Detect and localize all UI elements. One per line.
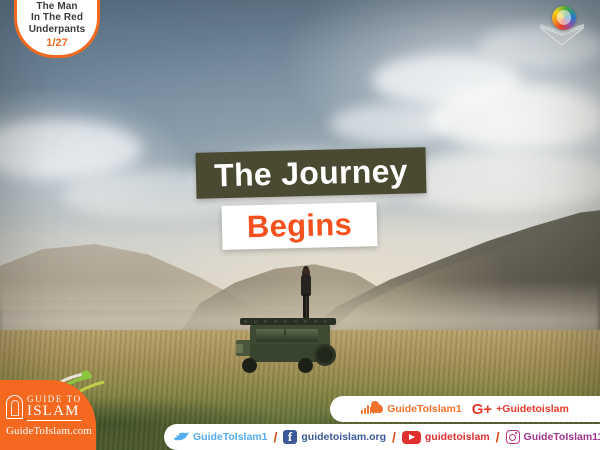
facebook-handle: guidetoislam.org — [301, 431, 386, 443]
facebook-icon — [283, 430, 297, 444]
social-bar-bottom: GuideToIslam1 / guidetoislam.org / guide… — [164, 424, 600, 450]
soundcloud-cloud — [370, 404, 383, 413]
title-line-2-bar: Begins — [221, 202, 377, 250]
soundcloud-handle: GuideToIslam1 — [387, 403, 462, 415]
episode-title-line-1: The Man — [29, 1, 86, 13]
soundcloud-icon — [361, 403, 383, 415]
episode-number: 1/27 — [46, 37, 67, 49]
title-line-1-bar: The Journey — [195, 147, 426, 199]
social-link-google-plus[interactable]: G+ +Guidetoislam — [472, 402, 569, 417]
youtube-handle: guidetoislam — [425, 431, 490, 443]
google-plus-icon: G+ — [472, 402, 492, 417]
brand-website[interactable]: GuideToIslam.com — [6, 425, 96, 437]
social-bar-top: GuideToIslam1 G+ +Guidetoislam — [330, 396, 600, 422]
brand-logo-block[interactable]: GUIDE TO ISLAM GuideToIslam.com — [0, 372, 122, 450]
title-line-1: The Journey — [214, 152, 408, 194]
globe-inner — [557, 10, 571, 25]
google-plus-handle: +Guidetoislam — [496, 403, 569, 415]
youtube-icon — [402, 431, 421, 444]
episode-title: The Man In The Red Underpants — [29, 1, 86, 36]
separator: / — [274, 429, 278, 445]
social-link-twitter[interactable]: GuideToIslam1 — [174, 431, 268, 443]
social-link-youtube[interactable]: guidetoislam — [402, 431, 490, 444]
social-link-soundcloud[interactable]: GuideToIslam1 — [361, 403, 462, 415]
guide-to-islam-logo[interactable] — [538, 6, 586, 50]
episode-title-line-2: In The Red — [29, 12, 86, 24]
globe-icon — [552, 6, 576, 30]
brand-name: GUIDE TO ISLAM — [27, 394, 82, 421]
twitter-handle: GuideToIslam1 — [193, 431, 268, 443]
brand-name-row: GUIDE TO ISLAM — [6, 394, 96, 421]
social-link-facebook[interactable]: guidetoislam.org — [283, 430, 386, 444]
title-line-2: Begins — [246, 207, 352, 246]
episode-title-line-3: Underpants — [29, 24, 86, 36]
brand-line-1: GUIDE TO — [27, 394, 82, 404]
instagram-icon — [506, 430, 520, 444]
instagram-handle: GuideToIslam11 — [524, 431, 600, 443]
twitter-icon — [174, 431, 189, 443]
separator: / — [496, 429, 500, 445]
brand-line-2: ISLAM — [27, 404, 82, 421]
separator: / — [392, 429, 396, 445]
mosque-arch-icon — [6, 395, 23, 419]
social-link-instagram[interactable]: GuideToIslam11 — [506, 430, 600, 444]
video-thumbnail-slide: The Man In The Red Underpants 1/27 The J… — [0, 0, 600, 450]
